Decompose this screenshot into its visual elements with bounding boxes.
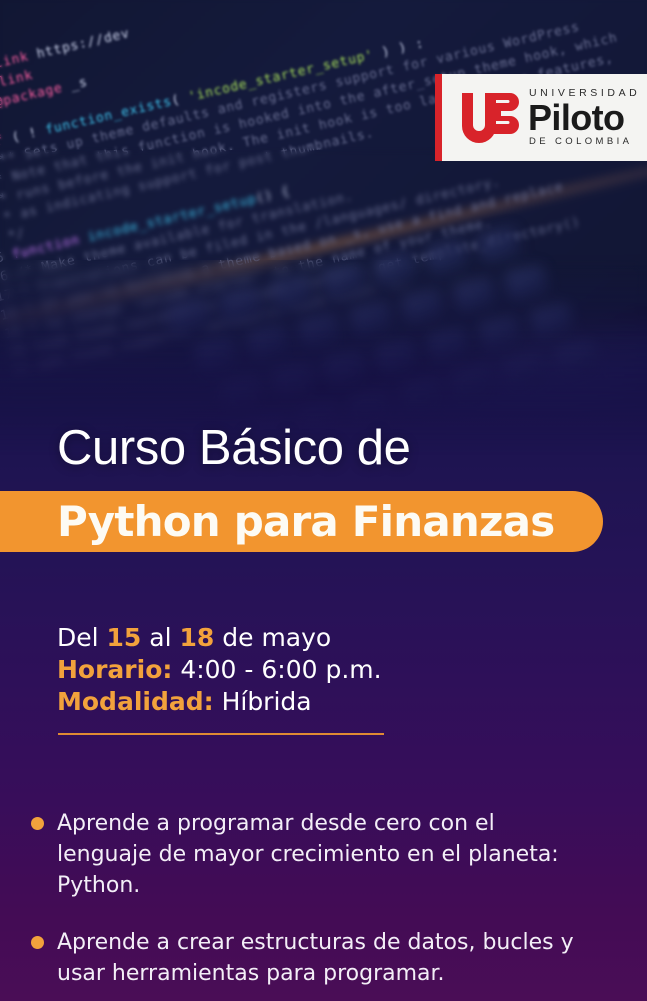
- list-item-label: Aprende a programar desde cero con el le…: [57, 808, 587, 901]
- logo-wordmark: UNIVERSIDAD Piloto DE COLOMBIA: [529, 88, 640, 147]
- list-item-label: Aprende a crear estructuras de datos, bu…: [57, 927, 587, 989]
- schedule-value: 4:00 - 6:00 p.m.: [172, 655, 381, 684]
- course-details: Del 15 al 18 de mayo Horario: 4:00 - 6:0…: [57, 622, 382, 718]
- list-item: Aprende a crear estructuras de datos, bu…: [31, 927, 611, 989]
- date-suffix: de mayo: [214, 623, 331, 652]
- poster-root: * @link https://dev * @link * @package _…: [0, 0, 647, 1001]
- date-middle: al: [141, 623, 179, 652]
- upc-monogram-icon: [458, 89, 520, 147]
- date-day-start: 15: [107, 623, 142, 652]
- detail-schedule: Horario: 4:00 - 6:00 p.m.: [57, 654, 382, 686]
- logo-main-line: Piloto: [528, 101, 640, 136]
- logo-red-bar: [435, 74, 442, 161]
- university-logo: UNIVERSIDAD Piloto DE COLOMBIA: [435, 74, 647, 161]
- detail-date: Del 15 al 18 de mayo: [57, 622, 382, 654]
- logo-bottom-line: DE COLOMBIA: [529, 137, 640, 147]
- detail-modality: Modalidad: Híbrida: [57, 686, 382, 718]
- course-title-banner: Python para Finanzas: [0, 491, 603, 552]
- bullet-dot-icon: [31, 817, 44, 830]
- modality-value: Híbrida: [214, 687, 312, 716]
- bullet-dot-icon: [31, 936, 44, 949]
- date-prefix: Del: [57, 623, 107, 652]
- list-item: Aprende a programar desde cero con el le…: [31, 808, 611, 901]
- course-headline: Curso Básico de: [57, 424, 411, 473]
- modality-label: Modalidad:: [57, 687, 214, 716]
- course-benefits-list: Aprende a programar desde cero con el le…: [31, 808, 611, 1001]
- schedule-label: Horario:: [57, 655, 172, 684]
- hero-photo: * @link https://dev * @link * @package _…: [0, 0, 647, 455]
- course-title: Python para Finanzas: [57, 501, 554, 543]
- date-day-end: 18: [180, 623, 215, 652]
- details-divider: [58, 733, 384, 735]
